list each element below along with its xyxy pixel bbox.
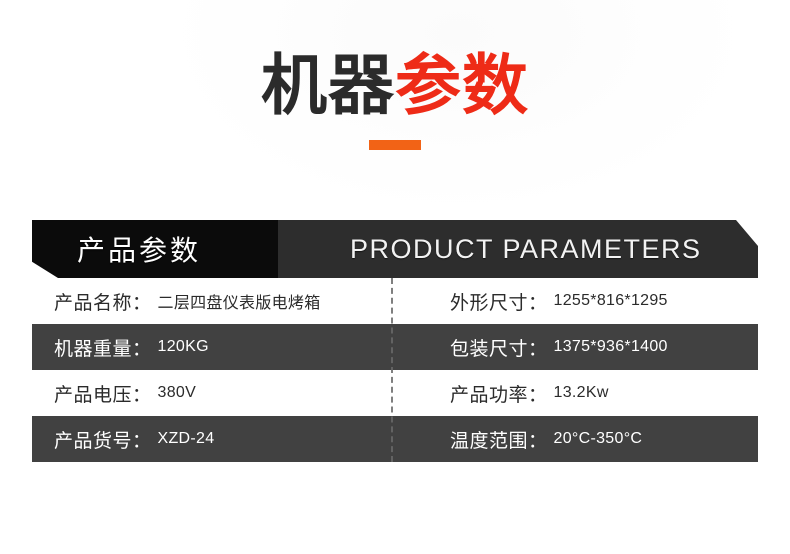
spec-value: 1375*936*1400 bbox=[554, 338, 668, 356]
spec-table: 产品名称： 二层四盘仪表版电烤箱 外形尺寸： 1255*816*1295 机器重… bbox=[32, 278, 758, 462]
spec-value: 120KG bbox=[158, 338, 209, 356]
table-row: 产品电压： 380V 产品功率： 13.2Kw bbox=[32, 370, 758, 416]
table-cell-right: 外形尺寸： 1255*816*1295 bbox=[392, 278, 758, 324]
spec-header-en-label: PRODUCT PARAMETERS bbox=[278, 234, 702, 265]
spec-header-bar: 产品参数 PRODUCT PARAMETERS bbox=[32, 220, 758, 278]
table-cell-left: 产品电压： 380V bbox=[32, 370, 392, 416]
spec-value: 20°C-350°C bbox=[554, 430, 643, 448]
page-title-dark-part: 机器 bbox=[261, 48, 395, 122]
title-underline-bar bbox=[369, 140, 421, 150]
spec-value: XZD-24 bbox=[158, 430, 215, 448]
table-row: 产品货号： XZD-24 温度范围： 20°C-350°C bbox=[32, 416, 758, 462]
page-title-text: 机器参数 bbox=[0, 46, 790, 124]
spec-label: 产品功率： bbox=[450, 380, 548, 407]
table-cell-right: 产品功率： 13.2Kw bbox=[392, 370, 758, 416]
table-cell-left: 产品名称： 二层四盘仪表版电烤箱 bbox=[32, 278, 392, 324]
spec-header-en-section: PRODUCT PARAMETERS bbox=[278, 220, 758, 278]
page-title: 机器参数 bbox=[0, 46, 790, 150]
spec-value: 380V bbox=[158, 384, 197, 402]
spec-value: 1255*816*1295 bbox=[554, 292, 668, 310]
spec-label: 温度范围： bbox=[450, 426, 548, 453]
table-cell-right: 温度范围： 20°C-350°C bbox=[392, 416, 758, 462]
table-cell-left: 机器重量： 120KG bbox=[32, 324, 392, 370]
spec-value: 二层四盘仪表版电烤箱 bbox=[158, 289, 321, 313]
table-row: 产品名称： 二层四盘仪表版电烤箱 外形尺寸： 1255*816*1295 bbox=[32, 278, 758, 324]
spec-value: 13.2Kw bbox=[554, 384, 609, 402]
table-cell-left: 产品货号： XZD-24 bbox=[32, 416, 392, 462]
spec-label: 产品货号： bbox=[54, 426, 152, 453]
page-title-red-part: 参数 bbox=[395, 48, 529, 122]
spec-label: 机器重量： bbox=[54, 334, 152, 361]
spec-label: 产品电压： bbox=[54, 380, 152, 407]
spec-label: 产品名称： bbox=[54, 288, 152, 315]
table-cell-right: 包装尺寸： 1375*936*1400 bbox=[392, 324, 758, 370]
table-row: 机器重量： 120KG 包装尺寸： 1375*936*1400 bbox=[32, 324, 758, 370]
spec-label: 包装尺寸： bbox=[450, 334, 548, 361]
spec-header-cn-label: 产品参数 bbox=[32, 229, 201, 269]
spec-label: 外形尺寸： bbox=[450, 288, 548, 315]
spec-header-cn-section: 产品参数 bbox=[32, 220, 278, 278]
spec-panel: 产品参数 PRODUCT PARAMETERS 产品名称： 二层四盘仪表版电烤箱… bbox=[32, 220, 758, 462]
